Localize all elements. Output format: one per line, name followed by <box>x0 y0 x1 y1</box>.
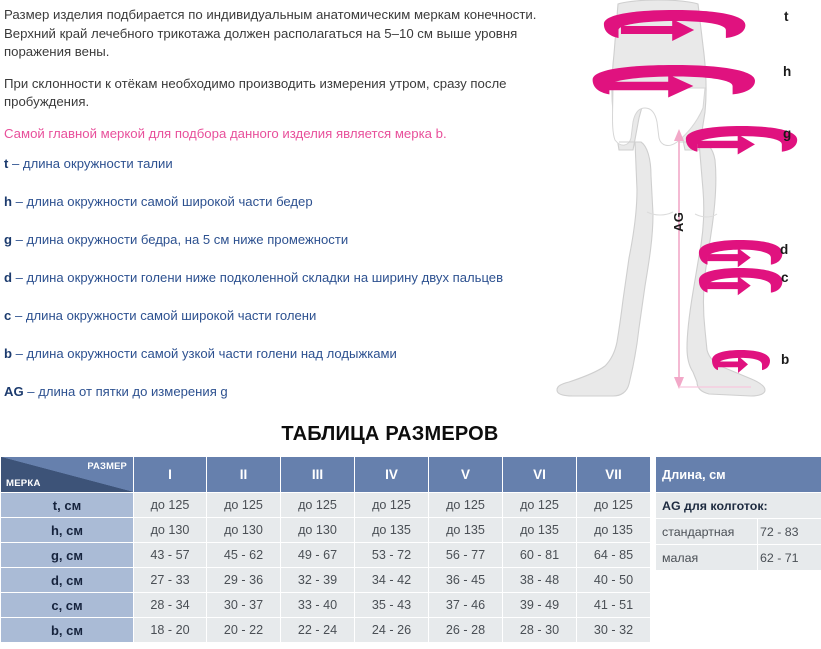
intro-paragraph-2: При склонности к отёкам необходимо произ… <box>4 75 552 112</box>
row-label-d: d, см <box>1 568 134 593</box>
figure-label-d: d <box>780 242 788 257</box>
legend-desc-d: – длина окружности голени ниже подколенн… <box>16 270 503 285</box>
figure-label-g: g <box>783 126 791 141</box>
figure-label-c: c <box>781 270 789 285</box>
length-table: Длина, см AG для колготок: стандартная 7… <box>655 456 821 571</box>
cell-b-4: 24 - 26 <box>355 618 429 643</box>
legend-key-g: g <box>4 232 12 247</box>
legend-desc-b: – длина окружности самой узкой части гол… <box>16 346 397 361</box>
legend-key-ag: AG <box>4 384 24 399</box>
cell-d-3: 32 - 39 <box>281 568 355 593</box>
length-section-label: AG для колготок: <box>656 493 821 519</box>
cell-c-7: 41 - 51 <box>577 593 651 618</box>
cell-h-7: до 135 <box>577 518 651 543</box>
legend-key-d: d <box>4 270 12 285</box>
length-row-label-small: малая <box>656 545 758 571</box>
column-header-7: VII <box>577 457 651 493</box>
cell-h-6: до 135 <box>503 518 577 543</box>
figure-label-b: b <box>781 352 789 367</box>
cell-t-1: до 125 <box>134 493 207 518</box>
cell-d-5: 36 - 45 <box>429 568 503 593</box>
table-row: b, см 18 - 20 20 - 22 22 - 24 24 - 26 26… <box>1 618 651 643</box>
column-header-2: II <box>207 457 281 493</box>
intro-highlight-note: Самой главной меркой для подбора данного… <box>4 125 552 144</box>
legend-item-g: g – длина окружности бедра, на 5 см ниже… <box>4 231 624 248</box>
legend-desc-g: – длина окружности бедра, на 5 см ниже п… <box>16 232 349 247</box>
cell-t-5: до 125 <box>429 493 503 518</box>
cell-t-7: до 125 <box>577 493 651 518</box>
cell-g-1: 43 - 57 <box>134 543 207 568</box>
cell-b-3: 22 - 24 <box>281 618 355 643</box>
cell-t-2: до 125 <box>207 493 281 518</box>
row-label-c: c, см <box>1 593 134 618</box>
cell-b-1: 18 - 20 <box>134 618 207 643</box>
column-header-6: VI <box>503 457 577 493</box>
column-header-3: III <box>281 457 355 493</box>
cell-c-1: 28 - 34 <box>134 593 207 618</box>
cell-b-6: 28 - 30 <box>503 618 577 643</box>
cell-b-2: 20 - 22 <box>207 618 281 643</box>
legend-key-b: b <box>4 346 12 361</box>
legend-item-d: d – длина окружности голени ниже подколе… <box>4 269 624 286</box>
cell-c-3: 33 - 40 <box>281 593 355 618</box>
length-table-header: Длина, см <box>656 457 821 493</box>
row-label-b: b, см <box>1 618 134 643</box>
list-item: AG для колготок: <box>656 493 821 519</box>
column-header-5: V <box>429 457 503 493</box>
page-title: ТАБЛИЦА РАЗМЕРОВ <box>0 423 780 446</box>
size-table: РАЗМЕР МЕРКА I II III IV V VI VII t, см … <box>0 456 651 643</box>
legend-item-h: h – длина окружности самой широкой части… <box>4 193 624 210</box>
cell-d-6: 38 - 48 <box>503 568 577 593</box>
cell-g-4: 53 - 72 <box>355 543 429 568</box>
figure-label-h: h <box>783 64 791 79</box>
cell-h-3: до 130 <box>281 518 355 543</box>
measurement-legend: t – длина окружности талии h – длина окр… <box>4 155 624 421</box>
cell-h-4: до 135 <box>355 518 429 543</box>
row-label-h: h, см <box>1 518 134 543</box>
intro-text-block: Размер изделия подбирается по индивидуал… <box>0 0 560 159</box>
table-row: t, см до 125 до 125 до 125 до 125 до 125… <box>1 493 651 518</box>
cell-t-3: до 125 <box>281 493 355 518</box>
legend-desc-c: – длина окружности самой широкой части г… <box>15 308 316 323</box>
cell-c-6: 39 - 49 <box>503 593 577 618</box>
cell-d-1: 27 - 33 <box>134 568 207 593</box>
figure-label-t: t <box>784 9 789 24</box>
table-row: d, см 27 - 33 29 - 36 32 - 39 34 - 42 36… <box>1 568 651 593</box>
legend-desc-t: – длина окружности талии <box>12 156 173 171</box>
length-table-header-row: Длина, см <box>656 457 821 493</box>
list-item: стандартная 72 - 83 <box>656 519 821 545</box>
legend-item-c: c – длина окружности самой широкой части… <box>4 307 624 324</box>
legend-item-b: b – длина окружности самой узкой части г… <box>4 345 624 362</box>
length-row-label-standard: стандартная <box>656 519 758 545</box>
cell-t-4: до 125 <box>355 493 429 518</box>
legend-desc-h: – длина окружности самой широкой части б… <box>16 194 313 209</box>
figure-label-ag: AG <box>671 212 686 232</box>
cell-h-5: до 135 <box>429 518 503 543</box>
legend-desc-ag: – длина от пятки до измерения g <box>27 384 227 399</box>
legend-item-t: t – длина окружности талии <box>4 155 624 172</box>
column-header-1: I <box>134 457 207 493</box>
corner-size-label: РАЗМЕР <box>87 460 127 471</box>
length-row-value-small: 62 - 71 <box>758 545 821 571</box>
band-d <box>699 240 783 267</box>
cell-g-3: 49 - 67 <box>281 543 355 568</box>
body-silhouette <box>557 0 765 396</box>
legend-key-t: t <box>4 156 8 171</box>
cell-t-6: до 125 <box>503 493 577 518</box>
cell-h-1: до 130 <box>134 518 207 543</box>
cell-d-7: 40 - 50 <box>577 568 651 593</box>
legend-key-c: c <box>4 308 11 323</box>
cell-g-2: 45 - 62 <box>207 543 281 568</box>
cell-d-2: 29 - 36 <box>207 568 281 593</box>
legend-key-h: h <box>4 194 12 209</box>
size-table-header-row: РАЗМЕР МЕРКА I II III IV V VI VII <box>1 457 651 493</box>
cell-c-2: 30 - 37 <box>207 593 281 618</box>
table-row: g, см 43 - 57 45 - 62 49 - 67 53 - 72 56… <box>1 543 651 568</box>
cell-g-6: 60 - 81 <box>503 543 577 568</box>
cell-d-4: 34 - 42 <box>355 568 429 593</box>
column-header-4: IV <box>355 457 429 493</box>
table-row: h, см до 130 до 130 до 130 до 135 до 135… <box>1 518 651 543</box>
legend-item-ag: AG – длина от пятки до измерения g <box>4 383 624 400</box>
table-corner-cell: РАЗМЕР МЕРКА <box>1 457 134 493</box>
row-label-g: g, см <box>1 543 134 568</box>
length-row-value-standard: 72 - 83 <box>758 519 821 545</box>
cell-c-5: 37 - 46 <box>429 593 503 618</box>
cell-b-5: 26 - 28 <box>429 618 503 643</box>
corner-measure-label: МЕРКА <box>6 478 41 489</box>
cell-b-7: 30 - 32 <box>577 618 651 643</box>
intro-paragraph-1: Размер изделия подбирается по индивидуал… <box>4 6 552 62</box>
cell-c-4: 35 - 43 <box>355 593 429 618</box>
list-item: малая 62 - 71 <box>656 545 821 571</box>
band-c <box>699 268 783 295</box>
row-label-t: t, см <box>1 493 134 518</box>
anatomical-measurement-diagram: t h g d c b AG <box>555 0 821 420</box>
cell-h-2: до 130 <box>207 518 281 543</box>
left-leg-shape <box>557 142 653 396</box>
cell-g-5: 56 - 77 <box>429 543 503 568</box>
table-row: c, см 28 - 34 30 - 37 33 - 40 35 - 43 37… <box>1 593 651 618</box>
cell-g-7: 64 - 85 <box>577 543 651 568</box>
